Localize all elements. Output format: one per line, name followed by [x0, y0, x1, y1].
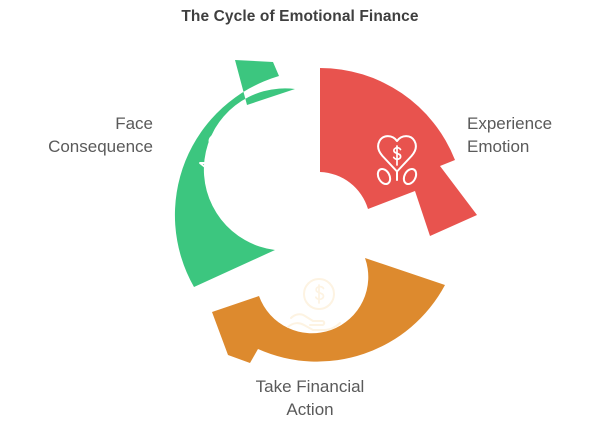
segment-face-consequence[interactable] [175, 60, 295, 287]
balance-scale-person-dollar-icon [200, 134, 261, 184]
label-take-financial-action: Take Financial Action [200, 376, 420, 422]
label-face-consequence: Face Consequence [0, 113, 153, 159]
hand-holding-coin-icon [288, 279, 340, 330]
cycle-diagram: Face Consequence Experience Emotion Take… [0, 0, 600, 430]
segment-face-consequence-shape [175, 60, 295, 287]
cycle-diagram-svg [0, 0, 600, 430]
segment-take-financial-action-shape [212, 258, 445, 363]
segment-experience-emotion[interactable] [320, 68, 477, 236]
segment-take-financial-action[interactable] [212, 258, 445, 363]
segment-experience-emotion-shape [320, 68, 477, 236]
label-experience-emotion: Experience Emotion [467, 113, 600, 159]
